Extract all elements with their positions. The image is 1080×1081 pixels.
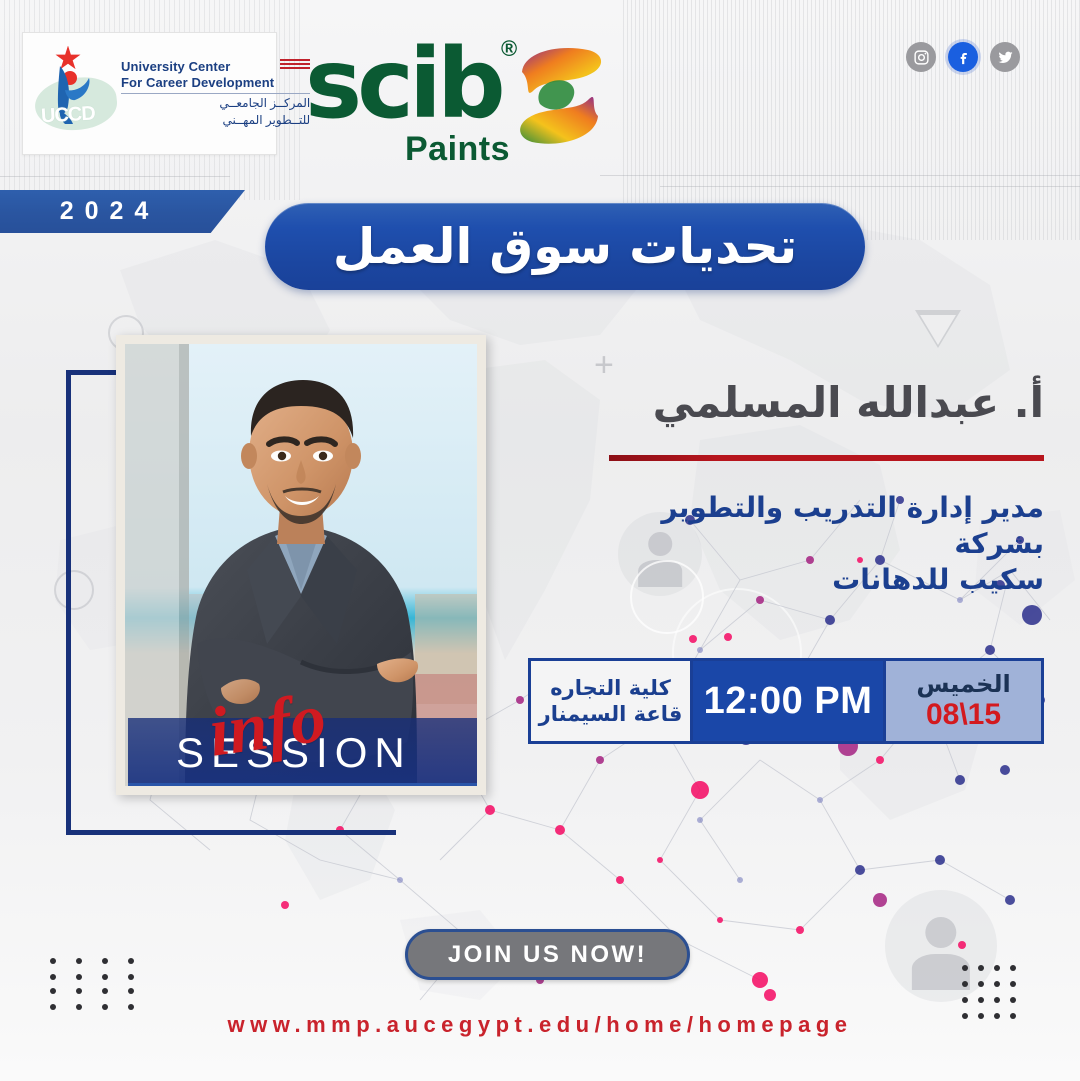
event-location-line2: قاعة السيمنار	[539, 701, 683, 727]
join-us-button[interactable]: JOIN US NOW!	[405, 929, 690, 980]
speaker-name-underline	[609, 455, 1044, 461]
event-title-banner: تحديات سوق العمل	[265, 203, 865, 290]
speaker-photo: SESSION info	[125, 344, 477, 786]
speaker-name: أ. عبدالله المسلمي	[584, 378, 1044, 427]
uccd-name-ar-1: المركــز الجامعــي	[121, 93, 310, 111]
uccd-name-en-1: University Center	[121, 59, 274, 75]
uccd-name-en-2: For Career Development	[121, 75, 274, 91]
year-label: 2024	[60, 197, 160, 226]
event-time: 12:00 PM	[693, 661, 883, 741]
facebook-icon[interactable]	[948, 42, 978, 72]
uccd-logo-text: University Center For Career Development…	[121, 59, 310, 128]
speaker-role-line2: سكيب للدهانات	[579, 562, 1044, 598]
speaker-role: مدير إدارة التدريب والتطوير بشركة سكيب ل…	[579, 490, 1044, 598]
twitter-icon[interactable]	[990, 42, 1020, 72]
uccd-logo: UCCD University Center For Career Develo…	[22, 32, 277, 155]
scib-wordmark: scib	[305, 36, 501, 132]
uccd-acronym: UCCD	[40, 102, 95, 128]
plus-icon: +	[594, 348, 614, 382]
user-silhouette-icon	[885, 890, 997, 1002]
scib-swirl-icon	[510, 42, 610, 150]
poster-canvas: +	[0, 0, 1080, 1081]
triangle-outline-icon	[915, 310, 961, 348]
event-location-line1: كلية التجاره	[550, 675, 671, 701]
instagram-icon[interactable]	[906, 42, 936, 72]
speaker-role-line1: مدير إدارة التدريب والتطوير بشركة	[579, 490, 1044, 562]
event-date-number: 15\08	[926, 698, 1001, 732]
event-date-day: الخميس	[916, 670, 1010, 698]
event-title: تحديات سوق العمل	[333, 218, 797, 275]
event-location: كلية التجاره قاعة السيمنار	[531, 661, 693, 741]
year-banner: 2024	[0, 190, 245, 233]
uccd-emblem-icon: UCCD	[29, 44, 121, 144]
event-date: الخميس 15\08	[883, 661, 1041, 741]
social-links	[906, 42, 1020, 72]
scib-paints-logo: scib ® Paints	[305, 30, 605, 170]
scib-tagline: Paints	[405, 130, 510, 169]
photo-card: SESSION info	[116, 335, 486, 795]
info-script-label: info	[204, 678, 331, 773]
speaker-photo-block: SESSION info	[66, 335, 486, 835]
website-url[interactable]: www.mmp.aucegypt.edu/home/homepage	[0, 1012, 1080, 1038]
event-info-bar: كلية التجاره قاعة السيمنار 12:00 PM الخم…	[528, 658, 1044, 744]
uccd-name-ar-2: للتــطوير المهــني	[121, 113, 310, 128]
